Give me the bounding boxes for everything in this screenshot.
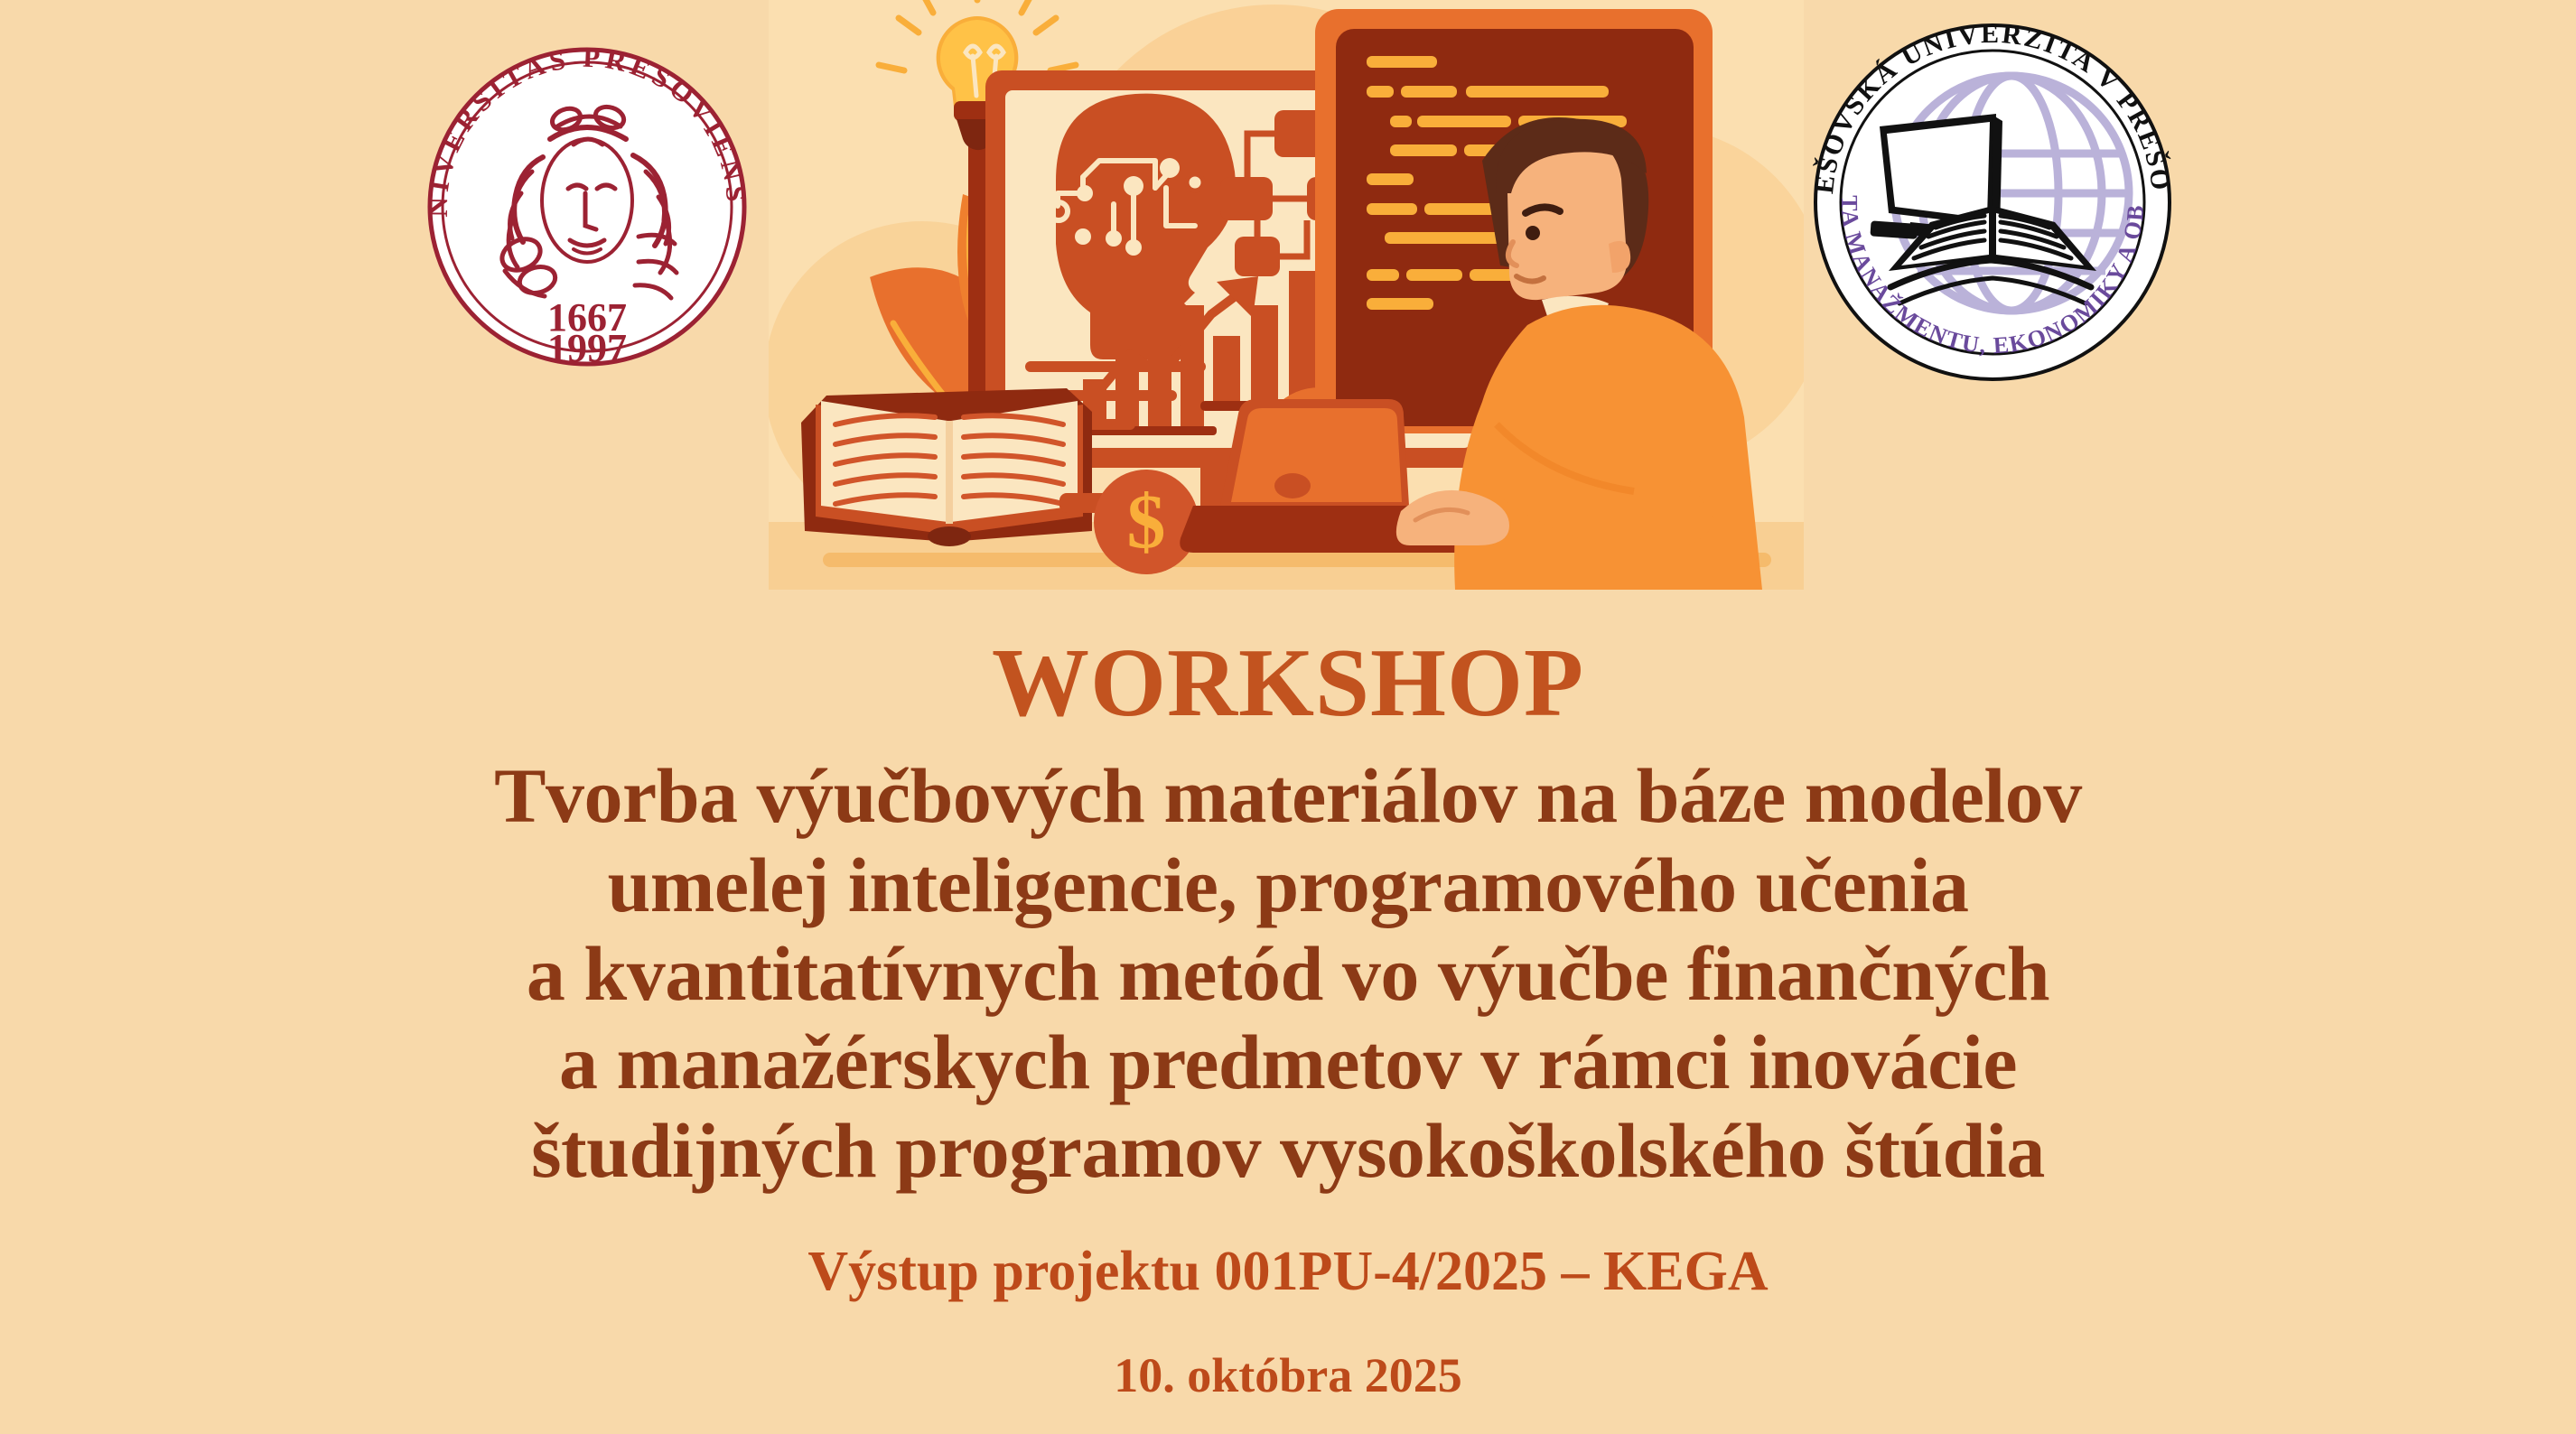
universitas-presoviensis-seal: UNIVERSITAS PRESOVIENSIS 1667 1997 xyxy=(406,13,769,390)
poster-text-block: WORKSHOP Tvorba výučbových materiálov na… xyxy=(0,596,2576,1405)
headline-line-4: a manažérskych predmetov v rámci inováci… xyxy=(0,1018,2576,1106)
page-title: WORKSHOP xyxy=(0,632,2576,735)
project-line: Výstup projektu 001PU-4/2025 – KEGA xyxy=(0,1238,2576,1305)
headline-line-1: Tvorba výučbových materiálov na báze mod… xyxy=(0,751,2576,840)
ai-learning-illustration: $ xyxy=(769,0,1804,590)
seal-year-bottom: 1997 xyxy=(547,326,627,370)
headline-line-2: umelej inteligencie, programového učenia xyxy=(0,841,2576,929)
poster-root: UNIVERSITAS PRESOVIENSIS 1667 1997 xyxy=(0,0,2576,1434)
open-book xyxy=(801,388,1092,546)
fakulta-manazmentu-logo: PREŠOVSKÁ UNIVERZITA V PREŠOVE FAKULTA M… xyxy=(1802,0,2183,390)
date-line: 10. októbra 2025 xyxy=(0,1346,2576,1405)
svg-text:$: $ xyxy=(1127,478,1166,564)
headline-line-5: študijných programov vysokoškolského štú… xyxy=(0,1106,2576,1195)
headline-line-3: a kvantitatívnych metód vo výučbe finanč… xyxy=(0,929,2576,1018)
headline: Tvorba výučbových materiálov na báze mod… xyxy=(0,751,2576,1194)
